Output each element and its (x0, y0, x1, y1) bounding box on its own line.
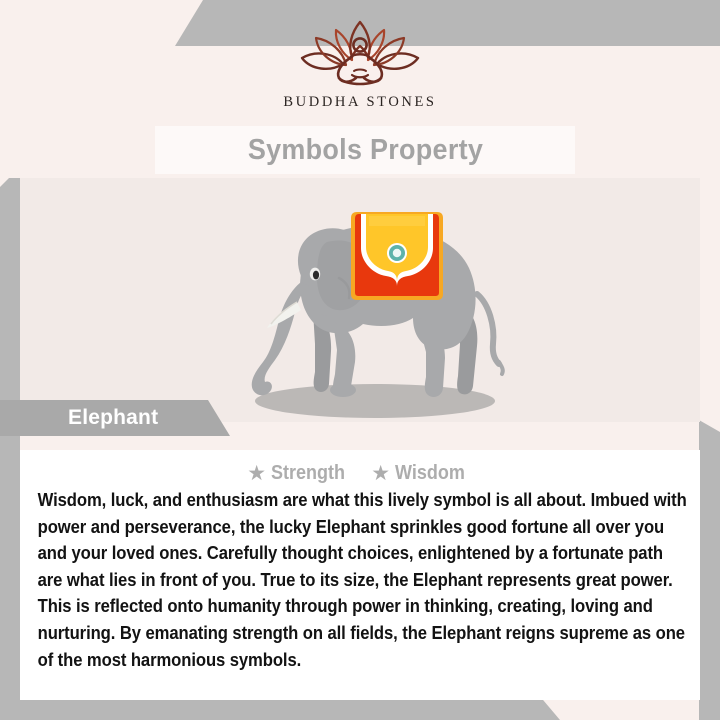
lotus-meditation-figure-icon (286, 20, 434, 92)
symbol-description-card: ★ Strength ★ Wisdom Wisdom, luck, and en… (20, 450, 700, 700)
left-gray-accent-bar (0, 178, 20, 702)
attribute-label: Strength (271, 462, 345, 485)
symbol-attributes: ★ Strength ★ Wisdom (34, 462, 686, 485)
page-title-banner: Symbols Property (155, 126, 575, 174)
attribute-strength: ★ Strength (247, 462, 353, 485)
symbol-description-text: Wisdom, luck, and enthusiasm are what th… (34, 487, 690, 673)
star-icon: ★ (371, 463, 390, 484)
brand-name: BUDDHA STONES (283, 94, 436, 111)
attribute-label: Wisdom (395, 462, 465, 485)
brand-header: BUDDHA STONES (0, 0, 720, 122)
right-gray-accent-bar (699, 420, 720, 720)
symbol-property-card: BUDDHA STONES Symbols Property (0, 0, 720, 720)
star-icon: ★ (247, 463, 266, 484)
symbol-name: Elephant (68, 406, 158, 430)
page-title: Symbols Property (247, 134, 482, 167)
symbol-name-tag: Elephant (0, 400, 230, 436)
attribute-wisdom: ★ Wisdom (371, 462, 472, 485)
